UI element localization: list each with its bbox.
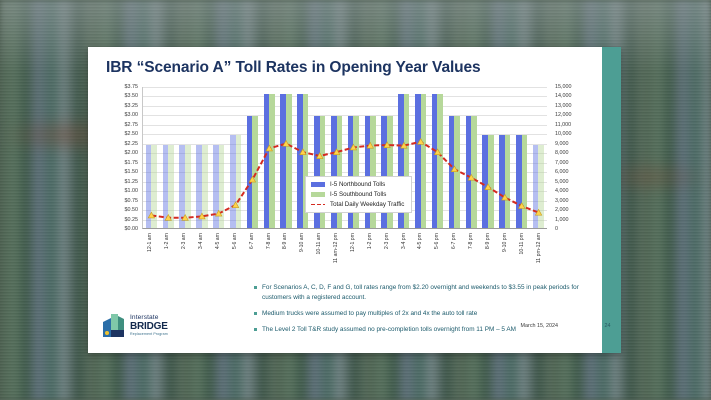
bar-group: [429, 87, 446, 228]
legend-swatch-icon-southbound: [311, 192, 325, 197]
bullet-text: The Level 2 Toll T&R study assumed no pr…: [262, 325, 516, 335]
bar-group: [244, 87, 261, 228]
x-axis-tick: 5-6 pm: [429, 231, 446, 287]
y-axis-right-tick: 11,000: [555, 122, 571, 128]
bar-southbound: [437, 94, 443, 228]
bar-group: [480, 87, 497, 228]
bar-group: [193, 87, 210, 228]
x-axis-tick-label: 10-11 am: [316, 233, 322, 255]
x-axis-tick: 7-8 pm: [463, 231, 480, 287]
y-axis-left: $0.00$0.25$0.50$0.75$1.00$1.25$1.50$1.75…: [100, 85, 140, 231]
x-axis-tick-label: 11 am-12 pm: [333, 233, 339, 263]
logo-line-bridge: BRIDGE: [130, 322, 168, 332]
bullet-text: Medium trucks were assumed to pay multip…: [262, 309, 477, 319]
y-axis-left-tick: $2.50: [125, 131, 139, 137]
bar-southbound: [202, 145, 208, 228]
bullet-marker-icon: [254, 286, 257, 289]
y-axis-left-tick: $3.50: [125, 93, 139, 99]
slide-page-number: 24: [598, 323, 617, 329]
y-axis-right-tick: 0: [555, 226, 558, 232]
bar-southbound: [286, 94, 292, 228]
toll-rate-chart: $0.00$0.25$0.50$0.75$1.00$1.25$1.50$1.75…: [100, 85, 600, 290]
y-axis-left-tick: $3.00: [125, 112, 139, 118]
x-axis-tick: 4-5 pm: [412, 231, 429, 287]
x-axis-tick-label: 12-1 am: [147, 233, 153, 252]
bar-group: [530, 87, 547, 228]
bullet-item: For Scenarios A, C, D, F and G, toll rat…: [254, 283, 594, 303]
bar-southbound: [269, 94, 275, 228]
x-axis-tick: 6-7 pm: [446, 231, 463, 287]
y-axis-right-tick: 10,000: [555, 131, 572, 137]
x-axis-tick: 10-11 pm: [513, 231, 530, 287]
x-axis-tick-label: 4-5 pm: [417, 233, 423, 249]
x-axis-tick: 6-7 am: [243, 231, 260, 287]
bar-southbound: [168, 145, 174, 228]
bar-group: [412, 87, 429, 228]
y-axis-right-tick: 1,000: [555, 217, 569, 223]
bar-group: [278, 87, 295, 228]
x-axis-tick-label: 5-6 pm: [434, 233, 440, 249]
bridge-logo-icon: [102, 313, 126, 339]
bar-southbound: [219, 145, 225, 228]
interstate-bridge-logo: Interstate BRIDGE Replacement Program: [102, 311, 198, 341]
x-axis-tick: 9-10 am: [294, 231, 311, 287]
x-axis-tick: 11 am-12 pm: [328, 231, 345, 287]
y-axis-right: 01,0002,0003,0004,0005,0006,0007,0008,00…: [552, 85, 596, 231]
x-axis-tick: 2-3 am: [176, 231, 193, 287]
logo-line-program: Replacement Program: [130, 333, 168, 337]
chart-legend: I-5 Northbound Tolls I-5 Southbound Toll…: [305, 176, 412, 213]
x-axis-tick-label: 9-10 pm: [502, 233, 508, 252]
y-axis-left-tick: $3.75: [125, 84, 139, 90]
bar-southbound: [471, 116, 477, 228]
bar-group: [210, 87, 227, 228]
y-axis-right-tick: 5,000: [555, 179, 569, 185]
y-axis-right-tick: 13,000: [555, 103, 572, 109]
bar-group: [261, 87, 278, 228]
bar-group: [143, 87, 160, 228]
x-axis-tick-label: 5-6 am: [232, 233, 238, 249]
y-axis-left-tick: $2.75: [125, 122, 139, 128]
x-axis-tick: 12-1 am: [142, 231, 159, 287]
bullet-marker-icon: [254, 328, 257, 331]
x-axis-tick-label: 6-7 pm: [451, 233, 457, 249]
slide-footer-date: March 15, 2024: [521, 323, 558, 329]
x-axis-tick-label: 7-8 pm: [468, 233, 474, 249]
bar-group: [227, 87, 244, 228]
x-axis-tick: 2-3 pm: [378, 231, 395, 287]
y-axis-right-tick: 3,000: [555, 198, 569, 204]
presentation-slide: IBR “Scenario A” Toll Rates in Opening Y…: [88, 47, 621, 353]
y-axis-right-tick: 6,000: [555, 169, 569, 175]
y-axis-left-tick: $1.50: [125, 169, 139, 175]
legend-item-northbound: I-5 Northbound Tolls: [311, 181, 404, 188]
legend-label-northbound: I-5 Northbound Tolls: [330, 181, 385, 188]
x-axis-tick: 1-2 am: [159, 231, 176, 287]
x-axis-tick-label: 10-11 pm: [519, 233, 525, 255]
bar-southbound: [185, 145, 191, 228]
x-axis-tick-label: 3-4 am: [198, 233, 204, 249]
slide-accent-bar: [602, 47, 621, 353]
bar-group: [496, 87, 513, 228]
bullet-list: For Scenarios A, C, D, F and G, toll rat…: [254, 283, 594, 341]
x-axis-tick-label: 2-3 am: [181, 233, 187, 249]
x-axis-tick: 10-11 am: [311, 231, 328, 287]
y-axis-left-tick: $0.75: [125, 198, 139, 204]
y-axis-right-tick: 7,000: [555, 160, 569, 166]
y-axis-right-tick: 8,000: [555, 150, 569, 156]
x-axis-tick-label: 11 pm-12 am: [536, 233, 542, 263]
y-axis-left-tick: $0.50: [125, 207, 139, 213]
bullet-text: For Scenarios A, C, D, F and G, toll rat…: [262, 283, 594, 303]
bar-southbound: [252, 116, 258, 228]
bullet-marker-icon: [254, 312, 257, 315]
legend-item-southbound: I-5 Southbound Tolls: [311, 191, 404, 198]
y-axis-right-tick: 2,000: [555, 207, 569, 213]
bar-southbound: [236, 135, 242, 228]
x-axis-tick-label: 8-9 pm: [485, 233, 491, 249]
x-axis-tick-label: 12-1 pm: [350, 233, 356, 252]
x-axis-tick: 4-5 am: [210, 231, 227, 287]
legend-line-icon-traffic: [311, 202, 325, 208]
x-axis-tick-label: 6-7 am: [249, 233, 255, 249]
x-axis-tick: 7-8 am: [260, 231, 277, 287]
x-axis-tick: 9-10 pm: [496, 231, 513, 287]
y-axis-left-tick: $0.25: [125, 217, 139, 223]
x-axis-tick-label: 8-9 am: [282, 233, 288, 249]
bar-group: [513, 87, 530, 228]
x-axis-tick: 5-6 am: [226, 231, 243, 287]
x-axis-labels: 12-1 am1-2 am2-3 am3-4 am4-5 am5-6 am6-7…: [142, 231, 547, 287]
bar-southbound: [421, 94, 427, 228]
y-axis-left-tick: $2.25: [125, 141, 139, 147]
x-axis-tick: 3-4 am: [193, 231, 210, 287]
x-axis-tick-label: 4-5 am: [215, 233, 221, 249]
x-axis-tick: 12-1 pm: [345, 231, 362, 287]
y-axis-right-tick: 14,000: [555, 93, 572, 99]
bar-group: [463, 87, 480, 228]
bar-southbound: [151, 145, 157, 228]
bar-southbound: [538, 145, 544, 228]
bar-group: [446, 87, 463, 228]
x-axis-tick: 8-9 am: [277, 231, 294, 287]
y-axis-left-tick: $1.25: [125, 179, 139, 185]
x-axis-tick-label: 7-8 am: [266, 233, 272, 249]
x-axis-tick-label: 2-3 pm: [384, 233, 390, 249]
legend-label-traffic: Total Daily Weekday Traffic: [330, 201, 404, 208]
bar-group: [160, 87, 177, 228]
y-axis-left-tick: $2.00: [125, 150, 139, 156]
x-axis-tick: 1-2 pm: [361, 231, 378, 287]
slide-title: IBR “Scenario A” Toll Rates in Opening Y…: [106, 59, 481, 77]
y-axis-left-tick: $0.00: [125, 226, 139, 232]
y-axis-left-tick: $1.00: [125, 188, 139, 194]
y-axis-left-tick: $3.25: [125, 103, 139, 109]
y-axis-right-tick: 4,000: [555, 188, 569, 194]
legend-item-traffic: Total Daily Weekday Traffic: [311, 201, 404, 208]
x-axis-tick-label: 9-10 am: [299, 233, 305, 252]
bar-southbound: [488, 135, 494, 228]
x-axis-tick-label: 1-2 am: [164, 233, 170, 249]
bullet-item: Medium trucks were assumed to pay multip…: [254, 309, 594, 319]
x-axis-tick: 3-4 pm: [395, 231, 412, 287]
x-axis-tick-label: 3-4 pm: [401, 233, 407, 249]
x-axis-tick-label: 1-2 pm: [367, 233, 373, 249]
x-axis-tick: 8-9 pm: [480, 231, 497, 287]
y-axis-left-tick: $1.75: [125, 160, 139, 166]
bar-southbound: [522, 135, 528, 228]
bar-southbound: [505, 135, 511, 228]
x-axis-tick: 11 pm-12 am: [530, 231, 547, 287]
legend-swatch-icon-northbound: [311, 182, 325, 187]
legend-label-southbound: I-5 Southbound Tolls: [330, 191, 386, 198]
y-axis-right-tick: 9,000: [555, 141, 569, 147]
bar-group: [177, 87, 194, 228]
y-axis-right-tick: 12,000: [555, 112, 572, 118]
bar-southbound: [454, 116, 460, 228]
y-axis-right-tick: 15,000: [555, 84, 572, 90]
